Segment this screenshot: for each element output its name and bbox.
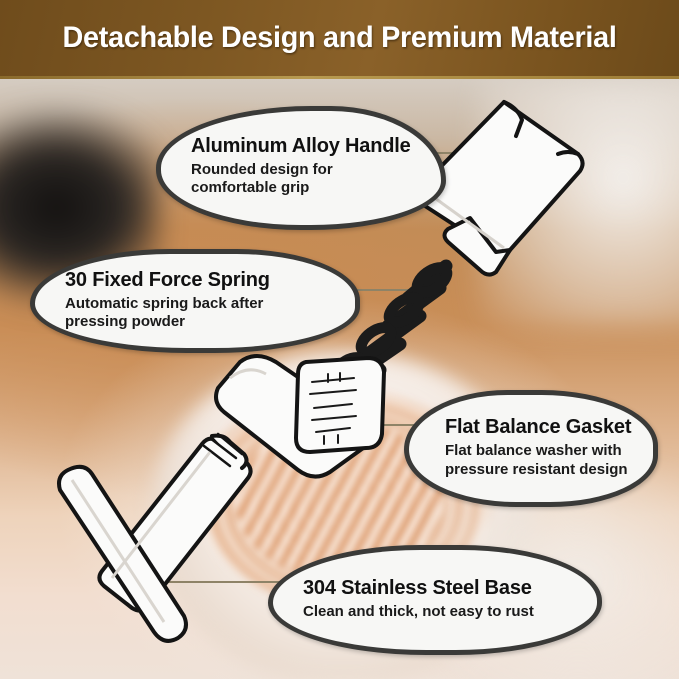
callout-description: Flat balance washer with pressure resist… (445, 442, 633, 479)
callout-stainless-steel-base[interactable]: 304 Stainless Steel Base Clean and thick… (268, 545, 602, 655)
callout-flat-balance-gasket[interactable]: Flat Balance Gasket Flat balance washer … (404, 390, 658, 507)
stainless-steel-base-illustration (40, 432, 280, 662)
callout-title: 30 Fixed Force Spring (65, 269, 329, 291)
callout-fixed-force-spring[interactable]: 30 Fixed Force Spring Automatic spring b… (30, 249, 360, 353)
callout-title: Flat Balance Gasket (445, 416, 633, 438)
callout-title: 304 Stainless Steel Base (303, 577, 573, 599)
page-title: Detachable Design and Premium Material (62, 21, 616, 55)
header-banner: Detachable Design and Premium Material (0, 0, 679, 76)
callout-title: Aluminum Alloy Handle (191, 135, 411, 157)
header-divider (0, 76, 679, 79)
callout-description: Clean and thick, not easy to rust (303, 603, 573, 621)
callout-aluminum-alloy-handle[interactable]: Aluminum Alloy Handle Rounded design for… (156, 106, 446, 230)
callout-description: Automatic spring back after pressing pow… (65, 295, 329, 332)
callout-description: Rounded design for comfortable grip (191, 161, 411, 198)
product-infographic: Detachable Design and Premium Material (0, 0, 679, 679)
